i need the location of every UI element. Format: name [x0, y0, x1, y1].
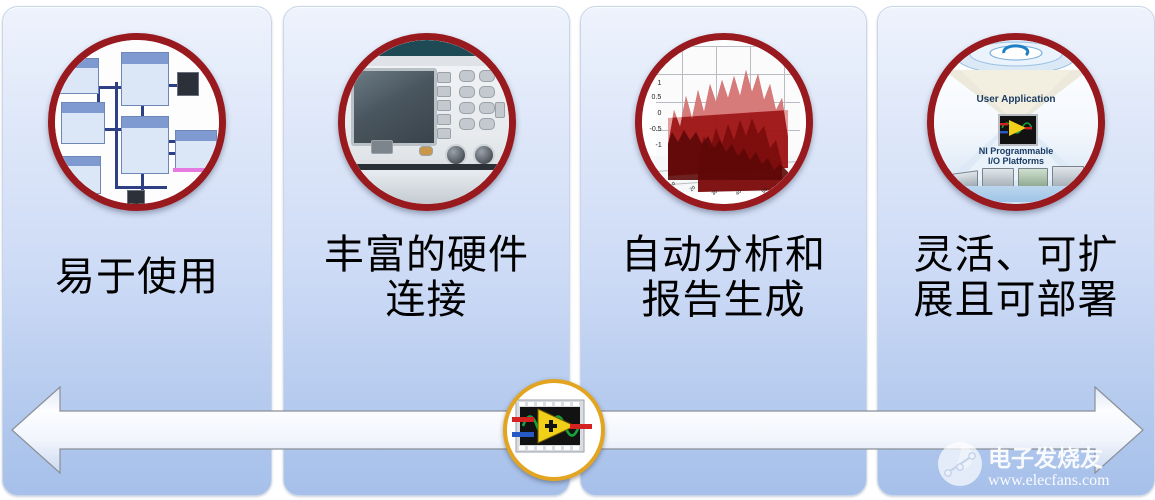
3d-surface-plot-thumbnail: 1 0.5 0 -0.5 -1 10 20 30	[642, 40, 806, 204]
watermark-url: www.elecfans.com	[988, 472, 1110, 489]
panel-caption: 易于使用	[9, 255, 265, 300]
panel-ease-of-use[interactable]: 易于使用	[2, 6, 272, 496]
elecfans-watermark: 电子发烧友 www.elecfans.com	[932, 438, 1147, 494]
panel-caption: 自动分析和 报告生成	[587, 233, 860, 323]
ni-bottom-label-2: I/O Platforms	[988, 156, 1044, 166]
panel-flexible-scalable-deployable[interactable]: User Application NI Programmable	[877, 6, 1155, 496]
panel-analysis-and-report[interactable]: 1 0.5 0 -0.5 -1 10 20 30	[580, 6, 867, 496]
panel-image-circle: 1 0.5 0 -0.5 -1 10 20 30	[635, 33, 813, 211]
panel-image-circle	[338, 33, 516, 211]
panel-image-circle	[48, 33, 226, 211]
panel-caption: 丰富的硬件 连接	[290, 233, 563, 323]
oscilloscope-instrument-thumbnail	[345, 40, 509, 204]
ni-bottom-label-1: NI Programmable	[979, 146, 1054, 156]
panel-image-circle: User Application NI Programmable	[927, 33, 1105, 211]
ni-top-label: User Application	[934, 94, 1098, 105]
labview-block-diagram-thumbnail	[55, 40, 219, 204]
panel-caption: 灵活、可扩 展且可部署	[884, 233, 1148, 323]
slide-canvas: 易于使用	[0, 0, 1155, 500]
ni-platform-hourglass-thumbnail: User Application NI Programmable	[934, 40, 1098, 204]
watermark-brand: 电子发烧友	[988, 445, 1103, 471]
labview-vi-icon[interactable]	[503, 379, 605, 481]
